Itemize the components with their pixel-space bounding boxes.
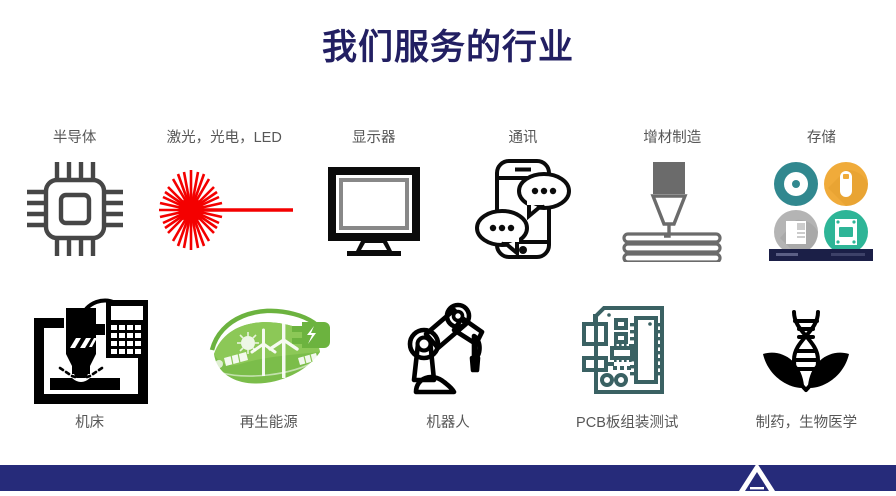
industry-label: 制药，生物医学 [756, 413, 858, 433]
industry-row-top: 半导体 [0, 128, 896, 278]
industry-label: 半导体 [53, 128, 97, 148]
green-leaf-energy-icon [203, 292, 335, 404]
cnc-machine-tool-icon [25, 292, 155, 404]
3d-printer-nozzle-icon [613, 156, 731, 264]
industry-label: PCB板组装测试 [576, 413, 678, 433]
industry-cell-machine-tool[interactable]: 机床 [0, 292, 179, 450]
smartphone-chat-icon [467, 156, 579, 264]
industry-cell-renewable-energy[interactable]: 再生能源 [179, 292, 358, 450]
industry-cell-display[interactable]: 显示器 [299, 128, 448, 278]
usb-flash-drive-tile [824, 162, 868, 206]
industry-row-bottom: 机床 [0, 292, 896, 450]
dna-leaf-biomedical-icon [750, 292, 862, 404]
industry-label: 机器人 [426, 413, 470, 433]
industry-label: 机床 [75, 413, 104, 433]
optical-disc-tile [774, 162, 818, 206]
industry-label: 再生能源 [240, 413, 298, 433]
industry-cell-pcb-assembly[interactable]: PCB板组装测试 [538, 292, 717, 450]
delta-triangle-logo-icon [725, 461, 789, 491]
industry-cell-communications[interactable]: 通讯 [448, 128, 597, 278]
floppy-disk-tile [774, 210, 818, 254]
page-title: 我们服务的行业 [0, 26, 896, 70]
hard-drive-tile [824, 210, 868, 254]
industry-label: 存储 [807, 128, 836, 148]
laser-beam-icon [149, 156, 299, 264]
industry-cell-laser[interactable]: 激光，光电，LED [149, 128, 299, 278]
slide-canvas: 我们服务的行业 半导体 [0, 0, 896, 491]
data-storage-icons [765, 156, 877, 264]
industry-cell-storage[interactable]: 存储 [747, 128, 896, 278]
microchip-icon [19, 156, 131, 264]
industry-label: 通讯 [509, 128, 538, 148]
industry-label: 激光，光电，LED [167, 128, 282, 148]
industry-cell-semiconductor[interactable]: 半导体 [0, 128, 149, 278]
robotic-arm-icon [392, 292, 504, 404]
industry-cell-additive-manufacturing[interactable]: 增材制造 [598, 128, 747, 278]
industry-cell-robotics[interactable]: 机器人 [358, 292, 537, 450]
industry-cell-biomedical[interactable]: 制药，生物医学 [717, 292, 896, 450]
computer-monitor-icon [318, 156, 430, 264]
industry-label: 增材制造 [643, 128, 701, 148]
pcb-circuit-board-icon [571, 292, 683, 404]
industry-label: 显示器 [352, 128, 396, 148]
